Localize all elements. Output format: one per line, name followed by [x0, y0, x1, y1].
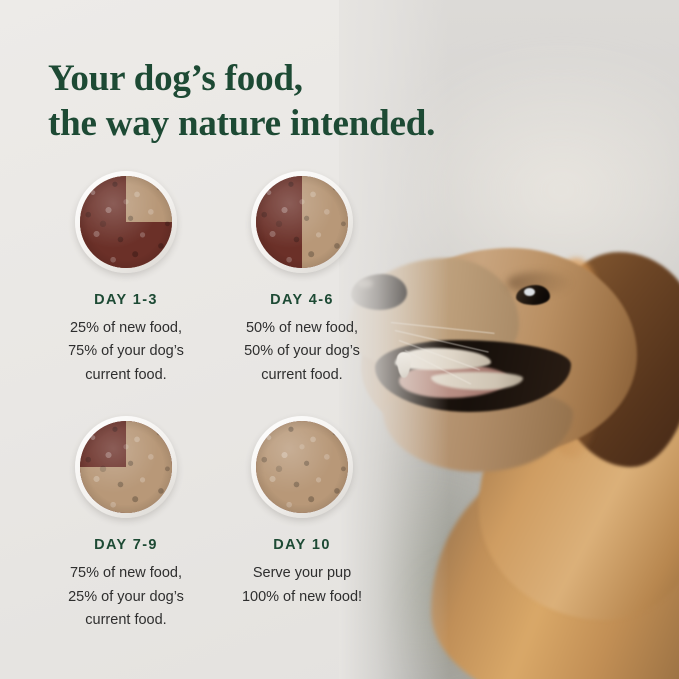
bowl-day-7-9	[71, 413, 181, 523]
bowl-rim	[251, 416, 353, 518]
step-day-4-6: DAY 4-6 50% of new food, 50% of your dog…	[214, 168, 390, 387]
kibble-texture	[80, 421, 172, 513]
bowl-rim	[251, 171, 353, 273]
step-description-line: Serve your pup	[242, 562, 362, 585]
step-description-line: 50% of your dog’s	[244, 340, 360, 363]
day-label: DAY 4-6	[270, 292, 334, 308]
page-title-line-2: the way nature intended.	[48, 101, 518, 146]
step-description-line: 50% of new food,	[244, 317, 360, 340]
feeding-transition-infographic: Your dog’s food, the way nature intended…	[0, 0, 679, 679]
bowl-day-4-6	[247, 168, 357, 278]
step-description: 50% of new food, 50% of your dog’s curre…	[244, 317, 360, 387]
day-label: DAY 7-9	[94, 537, 158, 553]
bowl-rim	[75, 171, 177, 273]
step-description-line: 75% of new food,	[68, 562, 184, 585]
step-day-10: DAY 10 Serve your pup 100% of new food!	[214, 413, 390, 632]
bowl-food-area	[80, 421, 172, 513]
step-description-line: current food.	[68, 609, 184, 632]
day-label: DAY 1-3	[94, 292, 158, 308]
kibble-texture	[80, 176, 172, 268]
transition-steps: DAY 1-3 25% of new food, 75% of your dog…	[38, 168, 390, 633]
step-description-line: 100% of new food!	[242, 586, 362, 609]
kibble-texture	[256, 176, 348, 268]
step-description-line: 25% of new food,	[68, 317, 184, 340]
kibble-texture	[256, 421, 348, 513]
step-description: 75% of new food, 25% of your dog’s curre…	[68, 562, 184, 632]
step-description-line: 25% of your dog’s	[68, 586, 184, 609]
step-description: 25% of new food, 75% of your dog’s curre…	[68, 317, 184, 387]
page-title-line-1: Your dog’s food,	[48, 56, 518, 101]
steps-row-bottom: DAY 7-9 75% of new food, 25% of your dog…	[38, 413, 390, 632]
dog-eye-highlight	[524, 288, 535, 296]
day-label: DAY 10	[273, 537, 331, 553]
bowl-day-1-3	[71, 168, 181, 278]
bowl-day-10	[247, 413, 357, 523]
step-description: Serve your pup 100% of new food!	[242, 562, 362, 609]
bowl-food-area	[256, 176, 348, 268]
steps-row-top: DAY 1-3 25% of new food, 75% of your dog…	[38, 168, 390, 387]
bowl-food-area	[80, 176, 172, 268]
step-day-7-9: DAY 7-9 75% of new food, 25% of your dog…	[38, 413, 214, 632]
step-description-line: 75% of your dog’s	[68, 340, 184, 363]
bowl-food-area	[256, 421, 348, 513]
step-day-1-3: DAY 1-3 25% of new food, 75% of your dog…	[38, 168, 214, 387]
step-description-line: current food.	[244, 364, 360, 387]
step-description-line: current food.	[68, 364, 184, 387]
bowl-rim	[75, 416, 177, 518]
page-title: Your dog’s food, the way nature intended…	[48, 56, 518, 146]
